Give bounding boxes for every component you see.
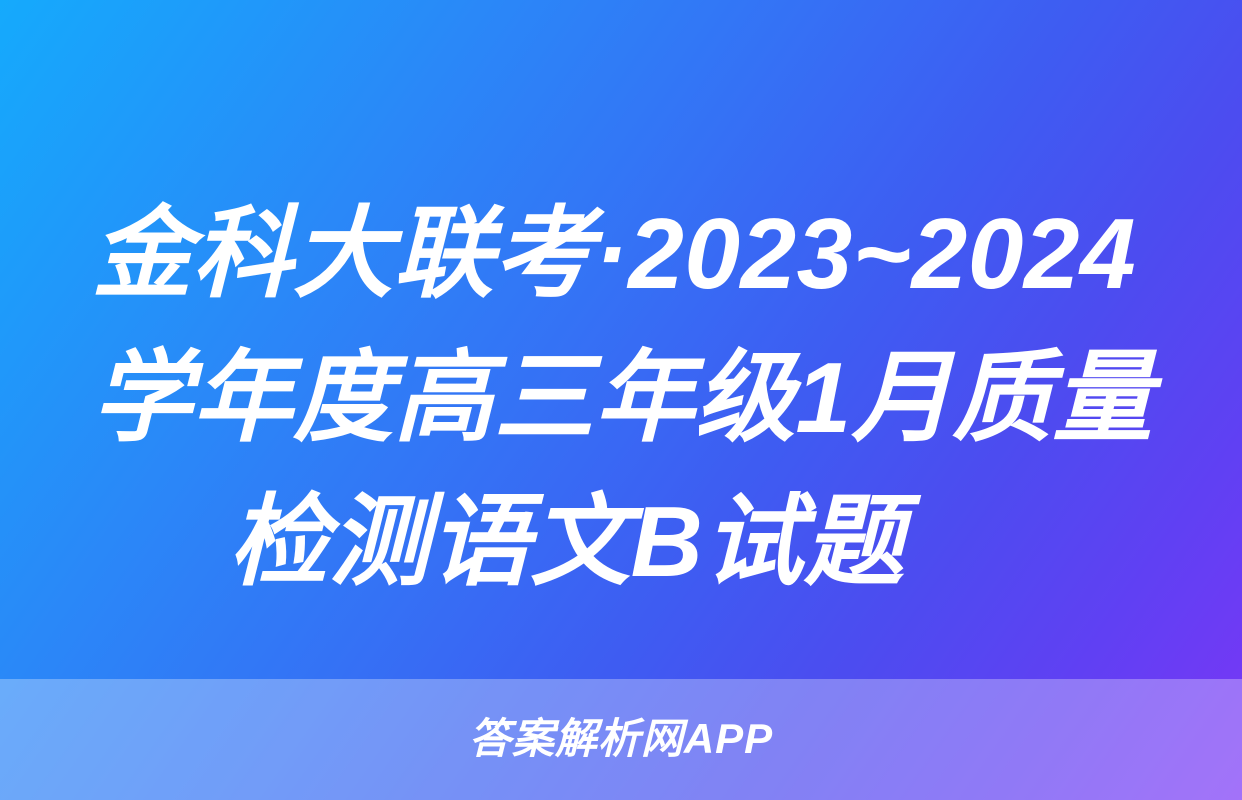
title-line-2: 学年度高三年级1月质量 xyxy=(92,326,1167,470)
app-watermark-label: 答案解析网APP xyxy=(469,718,773,762)
footer-band: 答案解析网APP xyxy=(0,679,1242,800)
title-line-3: 检测语文B试题 xyxy=(92,470,1167,614)
title-line-1: 金科大联考·2023~2024 xyxy=(92,182,1167,326)
poster-container: 金科大联考·2023~2024 学年度高三年级1月质量 检测语文B试题 答案解析… xyxy=(0,0,1242,800)
page-title: 金科大联考·2023~2024 学年度高三年级1月质量 检测语文B试题 xyxy=(92,182,1167,614)
